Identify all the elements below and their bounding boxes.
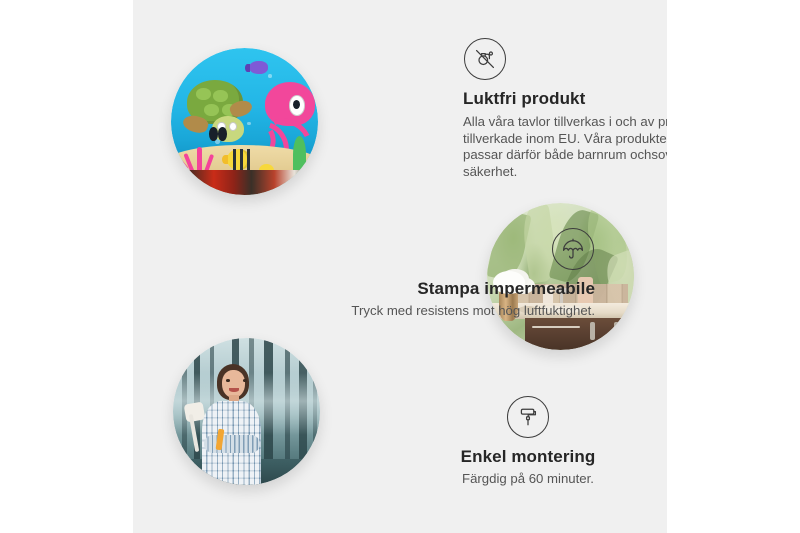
feature-body: Alla våra tavlor tillverkas i och av pro… [463, 114, 667, 180]
room-strip [186, 170, 312, 195]
coral [180, 136, 224, 174]
umbrella-icon [552, 228, 594, 270]
woman-with-paint-roller-forest-photo [173, 338, 320, 485]
no-odour-perfume-bottle-icon [464, 38, 506, 80]
feature-odourless: Luktfri produkt Alla våra tavlor tillver… [463, 38, 667, 180]
yellow-striped-fish [227, 149, 251, 170]
ocean-kids-illustration-photo [171, 48, 318, 195]
woman-face [222, 370, 246, 398]
feature-waterproof: Stampa impermeabile Tryck med resistens … [303, 228, 595, 320]
paint-roller-icon [507, 396, 549, 438]
seaweed [293, 136, 306, 174]
product-feature-infographic: Luktfri produkt Alla våra tavlor tillver… [0, 0, 800, 533]
feature-title: Enkel montering [408, 447, 648, 467]
purple-fish [249, 61, 268, 74]
feature-title: Luktfri produkt [463, 89, 667, 109]
woman-eyes [226, 379, 230, 382]
fish-stripes [233, 149, 237, 170]
feature-panel: Luktfri produkt Alla våra tavlor tillver… [133, 0, 667, 533]
paint-roller-head [183, 401, 205, 422]
octopus-eye [289, 95, 305, 116]
feature-mounting: Enkel montering Färgdig på 60 minuter. [408, 396, 648, 488]
bubble-icon [268, 74, 272, 78]
feature-title: Stampa impermeabile [303, 279, 595, 299]
folded-arms [204, 435, 260, 453]
wooden-vanity [525, 318, 634, 350]
feature-body: Färgdig på 60 minuter. [408, 471, 648, 488]
feature-body: Tryck med resistens mot hög luftfuktighe… [303, 303, 595, 320]
